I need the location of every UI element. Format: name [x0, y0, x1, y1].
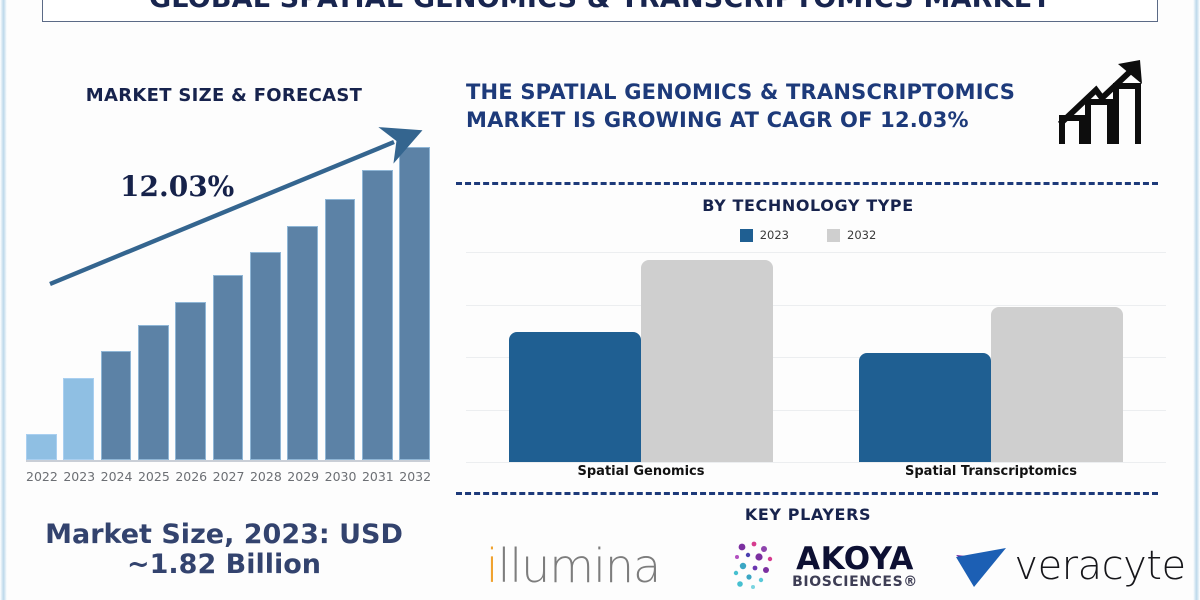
- legend-item[interactable]: 2032: [827, 228, 876, 242]
- cagr-statement-text: THE SPATIAL GENOMICS & TRANSCRIPTOMICS M…: [466, 78, 1056, 134]
- forecast-year-label: 2029: [287, 469, 318, 484]
- logo-veracyte: veracyte: [948, 541, 1192, 591]
- chart-bar-groups: [466, 252, 1166, 462]
- forecast-year-label: 2022: [26, 469, 57, 484]
- legend-swatch: [827, 229, 840, 242]
- forecast-year-label: 2028: [250, 469, 281, 484]
- akoya-logo-sub: BIOSCIENCES®: [792, 575, 918, 589]
- akoya-dots-icon: [728, 537, 786, 595]
- legend-label: 2032: [847, 228, 876, 242]
- left-edge-stripe: [0, 0, 7, 600]
- tech-category-label: Spatial Transcriptomics: [837, 464, 1145, 479]
- forecast-year-label: 2031: [362, 469, 393, 484]
- forecast-bar: [63, 378, 94, 461]
- key-players-logos: illumina: [448, 532, 1192, 600]
- illumina-logo-i: i: [486, 539, 498, 593]
- technology-type-heading: BY TECHNOLOGY TYPE: [448, 196, 1168, 215]
- forecast-year-label: 2032: [399, 469, 430, 484]
- growth-bar-chart-arrow-icon: [1052, 52, 1152, 152]
- cagr-callout-label: 12.03%: [120, 170, 234, 203]
- forecast-bar: [138, 325, 169, 460]
- divider-bottom: [456, 492, 1158, 495]
- legend-item[interactable]: 2023: [740, 228, 789, 242]
- right-panel: THE SPATIAL GENOMICS & TRANSCRIPTOMICS M…: [448, 0, 1192, 600]
- forecast-year-label: 2024: [101, 469, 132, 484]
- veracyte-check-icon: [954, 541, 1010, 591]
- market-forecast-heading: MARKET SIZE & FORECAST: [8, 85, 440, 106]
- forecast-year-label: 2027: [213, 469, 244, 484]
- veracyte-logo-name: veracyte: [1014, 543, 1185, 589]
- right-edge-stripe: [1193, 0, 1200, 600]
- forecast-x-axis: 2022202320242025202620272028202920302031…: [26, 464, 430, 488]
- akoya-logo-name: AKOYA: [796, 544, 914, 575]
- market-size-value: Market Size, 2023: USD ~1.82 Billion: [8, 520, 440, 580]
- tech-bar: [991, 307, 1123, 462]
- tech-bar: [509, 332, 641, 462]
- bar-group: [837, 252, 1145, 462]
- technology-chart-legend: 20232032: [448, 228, 1168, 242]
- gridline: [466, 462, 1166, 463]
- market-size-line-1: Market Size, 2023: USD: [45, 519, 403, 550]
- tech-bar: [859, 353, 991, 462]
- key-players-heading: KEY PLAYERS: [448, 505, 1168, 524]
- forecast-bar: [213, 275, 244, 460]
- tech-category-label: Spatial Genomics: [487, 464, 795, 479]
- forecast-year-label: 2023: [63, 469, 94, 484]
- market-size-line-2: ~1.82 Billion: [127, 549, 321, 580]
- forecast-year-label: 2026: [175, 469, 206, 484]
- by-technology-type-chart: Spatial GenomicsSpatial Transcriptomics: [466, 252, 1166, 462]
- forecast-bar: [101, 351, 132, 460]
- forecast-bar: [175, 302, 206, 460]
- infographic-page: GLOBAL SPATIAL GENOMICS & TRANSCRIPTOMIC…: [0, 0, 1200, 600]
- market-forecast-panel: MARKET SIZE & FORECAST 20222023202420252…: [8, 60, 440, 594]
- growth-trend-arrow-icon: [8, 120, 440, 300]
- chart-category-labels: Spatial GenomicsSpatial Transcriptomics: [466, 464, 1166, 479]
- logo-akoya: AKOYA BIOSCIENCES®: [698, 537, 948, 595]
- logo-illumina: illumina: [448, 543, 698, 589]
- forecast-year-label: 2025: [138, 469, 169, 484]
- forecast-year-label: 2030: [325, 469, 356, 484]
- legend-label: 2023: [760, 228, 789, 242]
- tech-bar: [641, 260, 773, 462]
- illumina-logo-rest: llumina: [498, 539, 661, 593]
- legend-swatch: [740, 229, 753, 242]
- divider-top: [456, 182, 1158, 185]
- bar-group: [487, 252, 795, 462]
- forecast-bar: [26, 434, 57, 460]
